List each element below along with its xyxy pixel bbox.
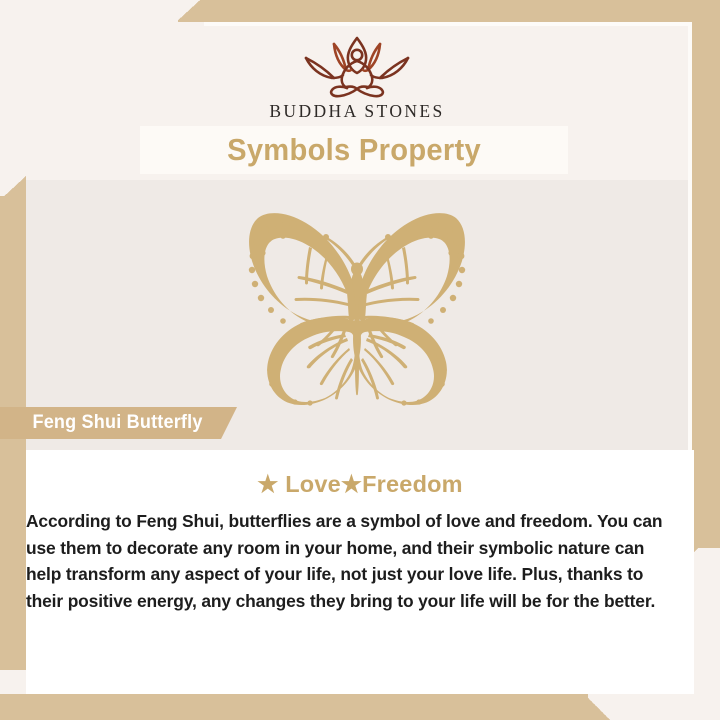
brand-header: BUDDHA STONES [26, 26, 688, 130]
tag-label: Feng Shui Butterfly [32, 412, 202, 434]
title-banner: Symbols Property [140, 126, 568, 174]
content-area: BUDDHA STONES Symbols Property [26, 26, 688, 694]
description-section: ★ Love★Freedom According to Feng Shui, b… [26, 450, 694, 694]
monarch-butterfly-silhouette [197, 208, 517, 408]
butterfly-image-wrap [26, 208, 688, 408]
frame-right-bevel [692, 528, 720, 554]
frame-bottom-right-bevel [584, 694, 610, 720]
frame-top-border [200, 0, 720, 22]
page-title: Symbols Property [227, 132, 481, 168]
frame-left-bevel [0, 176, 26, 200]
brand-name: BUDDHA STONES [269, 101, 444, 122]
frame-top-left-bevel [178, 0, 202, 22]
frame-bottom-border [0, 694, 588, 720]
description-heading: ★ Love★Freedom [26, 470, 694, 498]
lotus-meditation-icon [282, 30, 432, 98]
description-body: According to Feng Shui, butterflies are … [26, 508, 687, 615]
product-infographic: BUDDHA STONES Symbols Property [0, 0, 720, 720]
status-badge: Feng Shui Butterfly [0, 407, 237, 439]
frame-right-border [692, 0, 720, 548]
